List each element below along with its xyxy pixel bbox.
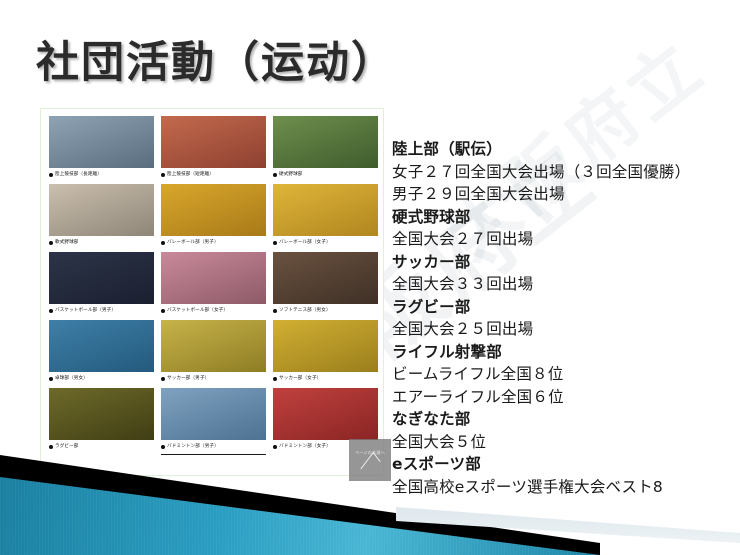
bullet-icon [49,309,53,313]
photo-caption-label: バドミントン部（男子） [167,440,219,454]
bullet-icon [49,241,53,245]
photo-caption-label: 軟式野球部 [55,236,78,250]
photo-cell[interactable]: 硬式野球部 [273,116,378,182]
photo-cell[interactable]: 軟式野球部 [49,184,154,250]
club-photo[interactable] [161,116,266,168]
photo-caption-label: 硬式野球部 [279,168,302,182]
club-photo[interactable] [161,320,266,372]
club-photo[interactable] [161,184,266,236]
club-photo[interactable] [161,252,266,304]
club-achievement: 男子２９回全国大会出場 [392,183,736,206]
photo-caption: 軟式野球部 [49,236,154,250]
photo-caption: バレーボール部（女子） [273,236,378,250]
photo-caption: 卓球部（男女） [49,372,154,386]
club-photo[interactable] [273,320,378,372]
photo-cell[interactable]: バスケットボール部（男子） [49,252,154,318]
club-name: なぎなた部 [392,408,736,431]
bullet-icon [161,377,165,381]
bullet-icon [161,309,165,313]
photo-row: ラグビー部バドミントン部（男子）バドミントン部（女子） [49,388,375,455]
photo-cell[interactable]: 陸上競技部（短距離） [161,116,266,182]
club-achievement: 全国大会３３回出場 [392,273,736,296]
photo-caption-label: バレーボール部（女子） [279,236,331,250]
slide-root: 大阪府立 大阪府立 社団活動（运动） 陸上競技部（長距離）陸上競技部（短距離）硬… [0,0,740,555]
club-achievement: 全国大会２５回出場 [392,318,736,341]
club-achievement: エアーライフル全国６位 [392,386,736,409]
photo-cell[interactable]: バレーボール部（女子） [273,184,378,250]
photo-caption-label: 陸上競技部（短距離） [167,168,214,182]
photo-cell[interactable]: バドミントン部（男子） [161,388,266,455]
photo-caption-label: バスケットボール部（女子） [167,304,228,318]
bullet-icon [273,173,277,177]
photo-row: 軟式野球部バレーボール部（男子）バレーボール部（女子） [49,184,375,250]
bullet-icon [161,241,165,245]
photo-caption: バスケットボール部（女子） [161,304,266,318]
photo-cell[interactable]: バレーボール部（男子） [161,184,266,250]
club-photo[interactable] [273,184,378,236]
club-name: ライフル射撃部 [392,341,736,364]
photo-caption: サッカー部（女子） [273,372,378,386]
club-photo[interactable] [49,116,154,168]
photo-caption-label: ラグビー部 [55,440,78,454]
photo-caption: サッカー部（男子） [161,372,266,386]
photo-caption-label: 卓球部（男女） [55,372,88,386]
club-photo[interactable] [49,252,154,304]
club-photo[interactable] [161,388,266,440]
club-name: サッカー部 [392,251,736,274]
club-achievement: 女子２７回全国大会出場（３回全国優勝） [392,161,736,184]
photo-caption-label: ソフトテニス部（男女） [279,304,331,318]
photo-caption: バドミントン部（男子） [161,440,266,455]
photo-row: バスケットボール部（男子）バスケットボール部（女子）ソフトテニス部（男女） [49,252,375,318]
bullet-icon [273,309,277,313]
club-achievements-list: 陸上部（駅伝）女子２７回全国大会出場（３回全国優勝）男子２９回全国大会出場硬式野… [392,138,736,498]
club-achievement: ビームライフル全国８位 [392,363,736,386]
photo-row: 陸上競技部（長距離）陸上競技部（短距離）硬式野球部 [49,116,375,182]
photo-caption-label: サッカー部（男子） [167,372,209,386]
photo-cell[interactable]: ソフトテニス部（男女） [273,252,378,318]
bullet-icon [49,445,53,449]
photo-cell[interactable]: ラグビー部 [49,388,154,455]
photo-caption: ラグビー部 [49,440,154,454]
photo-rows: 陸上競技部（長距離）陸上競技部（短距離）硬式野球部軟式野球部バレーボール部（男子… [49,116,375,455]
bullet-icon [273,377,277,381]
page-title: 社団活動（运动） [36,28,396,90]
footer-decoration [0,455,740,555]
club-photo[interactable] [49,184,154,236]
photo-caption: バレーボール部（男子） [161,236,266,250]
photo-caption-label: バスケットボール部（男子） [55,304,116,318]
photo-caption: バスケットボール部（男子） [49,304,154,318]
bullet-icon [273,241,277,245]
photo-caption-label: バドミントン部（女子） [279,440,331,454]
club-photo[interactable] [49,388,154,440]
photo-cell[interactable]: バスケットボール部（女子） [161,252,266,318]
photo-cell[interactable]: 陸上競技部（長距離） [49,116,154,182]
photo-row: 卓球部（男女）サッカー部（男子）サッカー部（女子） [49,320,375,386]
photo-caption: ソフトテニス部（男女） [273,304,378,318]
club-photo[interactable] [273,252,378,304]
bullet-icon [273,445,277,449]
photo-caption: 陸上競技部（短距離） [161,168,266,182]
photo-caption: 硬式野球部 [273,168,378,182]
bullet-icon [161,173,165,177]
photo-cell[interactable]: サッカー部（女子） [273,320,378,386]
club-photo[interactable] [273,388,378,440]
photo-cell[interactable]: サッカー部（男子） [161,320,266,386]
club-achievement: 全国大会５位 [392,431,736,454]
bullet-icon [161,445,165,449]
club-photo[interactable] [49,320,154,372]
bullet-icon [49,377,53,381]
bullet-icon [49,173,53,177]
club-name: ラグビー部 [392,296,736,319]
photo-caption-label: 陸上競技部（長距離） [55,168,102,182]
club-name: 硬式野球部 [392,206,736,229]
photo-caption-label: バレーボール部（男子） [167,236,219,250]
photo-caption-label: サッカー部（女子） [279,372,321,386]
photo-cell[interactable]: 卓球部（男女） [49,320,154,386]
photo-caption: 陸上競技部（長距離） [49,168,154,182]
club-name: 陸上部（駅伝） [392,138,736,161]
club-photo[interactable] [273,116,378,168]
photo-grid-panel: 陸上競技部（長距離）陸上競技部（短距離）硬式野球部軟式野球部バレーボール部（男子… [40,108,384,476]
club-achievement: 全国大会２７回出場 [392,228,736,251]
